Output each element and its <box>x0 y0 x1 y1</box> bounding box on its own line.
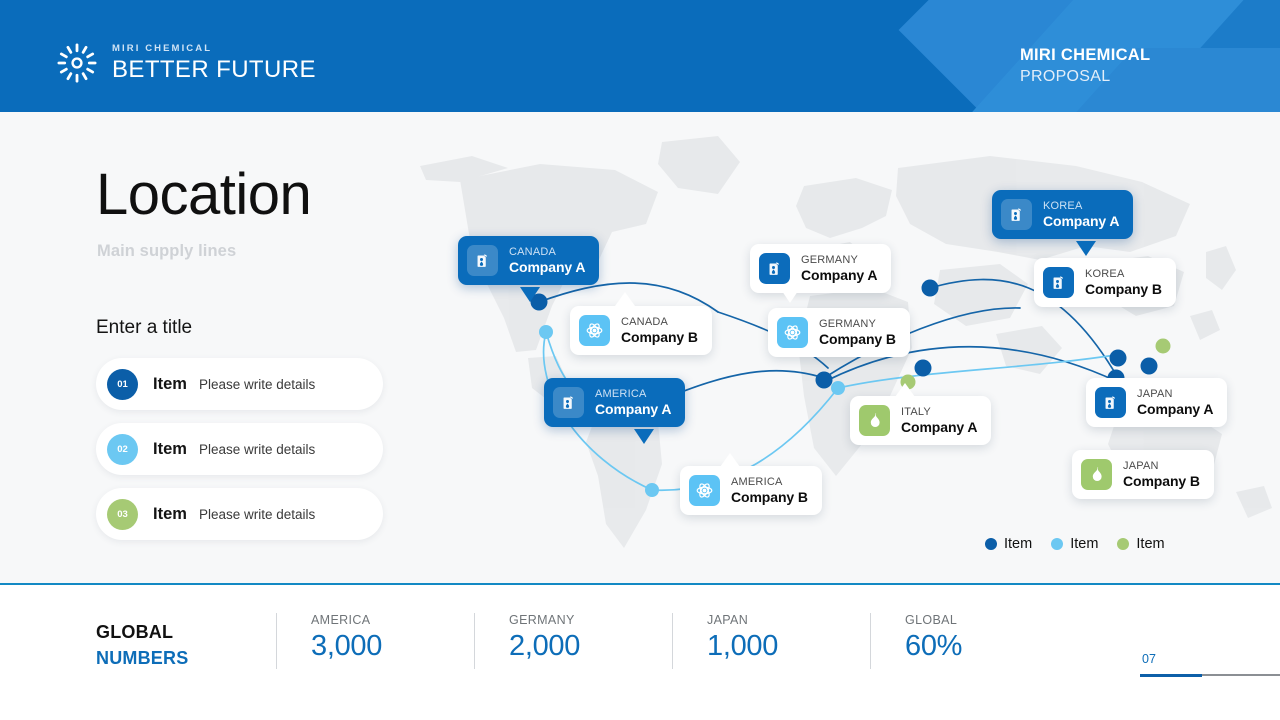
pin-company: Company A <box>1043 213 1119 230</box>
stat-label: GLOBAL <box>905 613 1068 627</box>
brand-logo[interactable]: MIRI CHEMICAL BETTER FUTURE <box>56 42 316 84</box>
stat-value: 60% <box>905 632 1068 661</box>
flame-icon <box>859 405 890 436</box>
atom-icon <box>777 317 808 348</box>
pin-country: KOREA <box>1043 200 1119 213</box>
atom-icon <box>579 315 610 346</box>
legend-dot-icon <box>1117 538 1129 550</box>
legend-item[interactable]: Item <box>1117 536 1164 552</box>
list-item[interactable]: 03 Item Please write details <box>96 488 383 540</box>
pin-country: ITALY <box>901 406 977 419</box>
pin-company: Company B <box>731 489 808 506</box>
slide-footer: GLOBAL NUMBERS AMERICA 3,000 GERMANY 2,0… <box>0 585 1280 720</box>
brand-logo-text: MIRI CHEMICAL BETTER FUTURE <box>112 44 316 83</box>
pager-progress <box>1140 674 1202 677</box>
brand-title: BETTER FUTURE <box>112 58 316 82</box>
legend-item[interactable]: Item <box>985 536 1032 552</box>
item-number-badge: 03 <box>107 499 138 530</box>
pin-country: GERMANY <box>801 254 877 267</box>
legend-dot-icon <box>985 538 997 550</box>
map-pin-america-company-a[interactable]: AMERICA Company A <box>544 378 685 427</box>
stat-america: AMERICA 3,000 <box>276 613 474 669</box>
pin-tail <box>720 453 740 467</box>
pin-country: KOREA <box>1085 268 1162 281</box>
pin-company: Company A <box>509 259 585 276</box>
pin-tail <box>520 287 540 302</box>
page-number: 07 <box>1142 652 1156 666</box>
pager-track[interactable] <box>1140 674 1280 676</box>
stat-japan: JAPAN 1,000 <box>672 613 870 669</box>
map-pin-germany-company-a[interactable]: GERMANY Company A <box>750 244 891 293</box>
global-numbers-row: GLOBAL NUMBERS AMERICA 3,000 GERMANY 2,0… <box>96 613 1068 671</box>
pin-company: Company B <box>1123 473 1200 490</box>
slide-location: MIRI CHEMICAL BETTER FUTURE MIRI CHEMICA… <box>0 0 1280 720</box>
item-description: Please write details <box>199 442 315 457</box>
stat-germany: GERMANY 2,000 <box>474 613 672 669</box>
map-pin-italy-company-a[interactable]: ITALY Company A <box>850 396 991 445</box>
pin-tail <box>780 288 800 303</box>
page-subtitle: Main supply lines <box>97 242 236 261</box>
stat-label: JAPAN <box>707 613 870 627</box>
header-doc-type: PROPOSAL <box>1020 66 1240 88</box>
atom-icon <box>689 475 720 506</box>
stat-label: GERMANY <box>509 613 672 627</box>
list-item[interactable]: 02 Item Please write details <box>96 423 383 475</box>
pin-country: AMERICA <box>595 388 671 401</box>
map-pin-korea-company-a[interactable]: KOREA Company A <box>992 190 1133 239</box>
list-item[interactable]: 01 Item Please write details <box>96 358 383 410</box>
stat-value: 2,000 <box>509 632 672 661</box>
item-number-badge: 02 <box>107 434 138 465</box>
pin-country: JAPAN <box>1137 388 1213 401</box>
legend-item[interactable]: Item <box>1051 536 1098 552</box>
list-section-title: Enter a title <box>96 317 192 339</box>
flame-icon <box>1081 459 1112 490</box>
pin-company: Company A <box>1137 401 1213 418</box>
pin-company: Company B <box>1085 281 1162 298</box>
pin-company: Company A <box>901 419 977 436</box>
page-title: Location <box>96 166 311 224</box>
item-description: Please write details <box>199 377 315 392</box>
item-description: Please write details <box>199 507 315 522</box>
stats-heading-line1: GLOBAL <box>96 619 276 645</box>
header-proposal-label: MIRI CHEMICAL PROPOSAL <box>1020 44 1240 88</box>
legend-dot-icon <box>1051 538 1063 550</box>
stat-value: 1,000 <box>707 632 870 661</box>
pin-tail <box>615 292 635 306</box>
map-legend: Item Item Item <box>985 536 1165 552</box>
stat-global: GLOBAL 60% <box>870 613 1068 669</box>
legend-label: Item <box>1070 536 1098 552</box>
item-label: Item <box>153 440 187 459</box>
map-pin-korea-company-b[interactable]: KOREA Company B <box>1034 258 1176 307</box>
item-label: Item <box>153 505 187 524</box>
map-pin-japan-company-b[interactable]: JAPAN Company B <box>1072 450 1214 499</box>
stats-heading: GLOBAL NUMBERS <box>96 613 276 671</box>
item-label: Item <box>153 375 187 394</box>
item-list: 01 Item Please write details 02 Item Ple… <box>96 358 383 553</box>
pin-tail <box>634 429 654 444</box>
item-number-badge: 01 <box>107 369 138 400</box>
pin-tail <box>1076 241 1096 256</box>
legend-label: Item <box>1136 536 1164 552</box>
map-pin-america-company-b[interactable]: AMERICA Company B <box>680 466 822 515</box>
pin-country: AMERICA <box>731 476 808 489</box>
pin-company: Company B <box>621 329 698 346</box>
map-pin-canada-company-b[interactable]: CANADA Company B <box>570 306 712 355</box>
oil-canister-icon <box>1095 387 1126 418</box>
oil-canister-icon <box>467 245 498 276</box>
brand-eyebrow: MIRI CHEMICAL <box>112 44 316 54</box>
map-pin-japan-company-a[interactable]: JAPAN Company A <box>1086 378 1227 427</box>
world-map: CANADA Company A CANADA Company B <box>400 120 1280 580</box>
pin-country: CANADA <box>509 246 585 259</box>
stats-heading-line2: NUMBERS <box>96 645 276 671</box>
map-pin-germany-company-b[interactable]: GERMANY Company B <box>768 308 910 357</box>
oil-canister-icon <box>553 387 584 418</box>
slide-header: MIRI CHEMICAL BETTER FUTURE MIRI CHEMICA… <box>0 0 1280 112</box>
pin-country: JAPAN <box>1123 460 1200 473</box>
pin-country: CANADA <box>621 316 698 329</box>
stat-value: 3,000 <box>311 632 474 661</box>
stat-label: AMERICA <box>311 613 474 627</box>
legend-label: Item <box>1004 536 1032 552</box>
pin-company: Company B <box>819 331 896 348</box>
header-company-name: MIRI CHEMICAL <box>1020 44 1240 66</box>
pin-tail <box>895 383 915 397</box>
oil-canister-icon <box>1001 199 1032 230</box>
pin-country: GERMANY <box>819 318 896 331</box>
pin-company: Company A <box>801 267 877 284</box>
oil-canister-icon <box>759 253 790 284</box>
oil-canister-icon <box>1043 267 1074 298</box>
pin-company: Company A <box>595 401 671 418</box>
map-pin-canada-company-a[interactable]: CANADA Company A <box>458 236 599 285</box>
sunburst-flower-logo-icon <box>56 42 98 84</box>
